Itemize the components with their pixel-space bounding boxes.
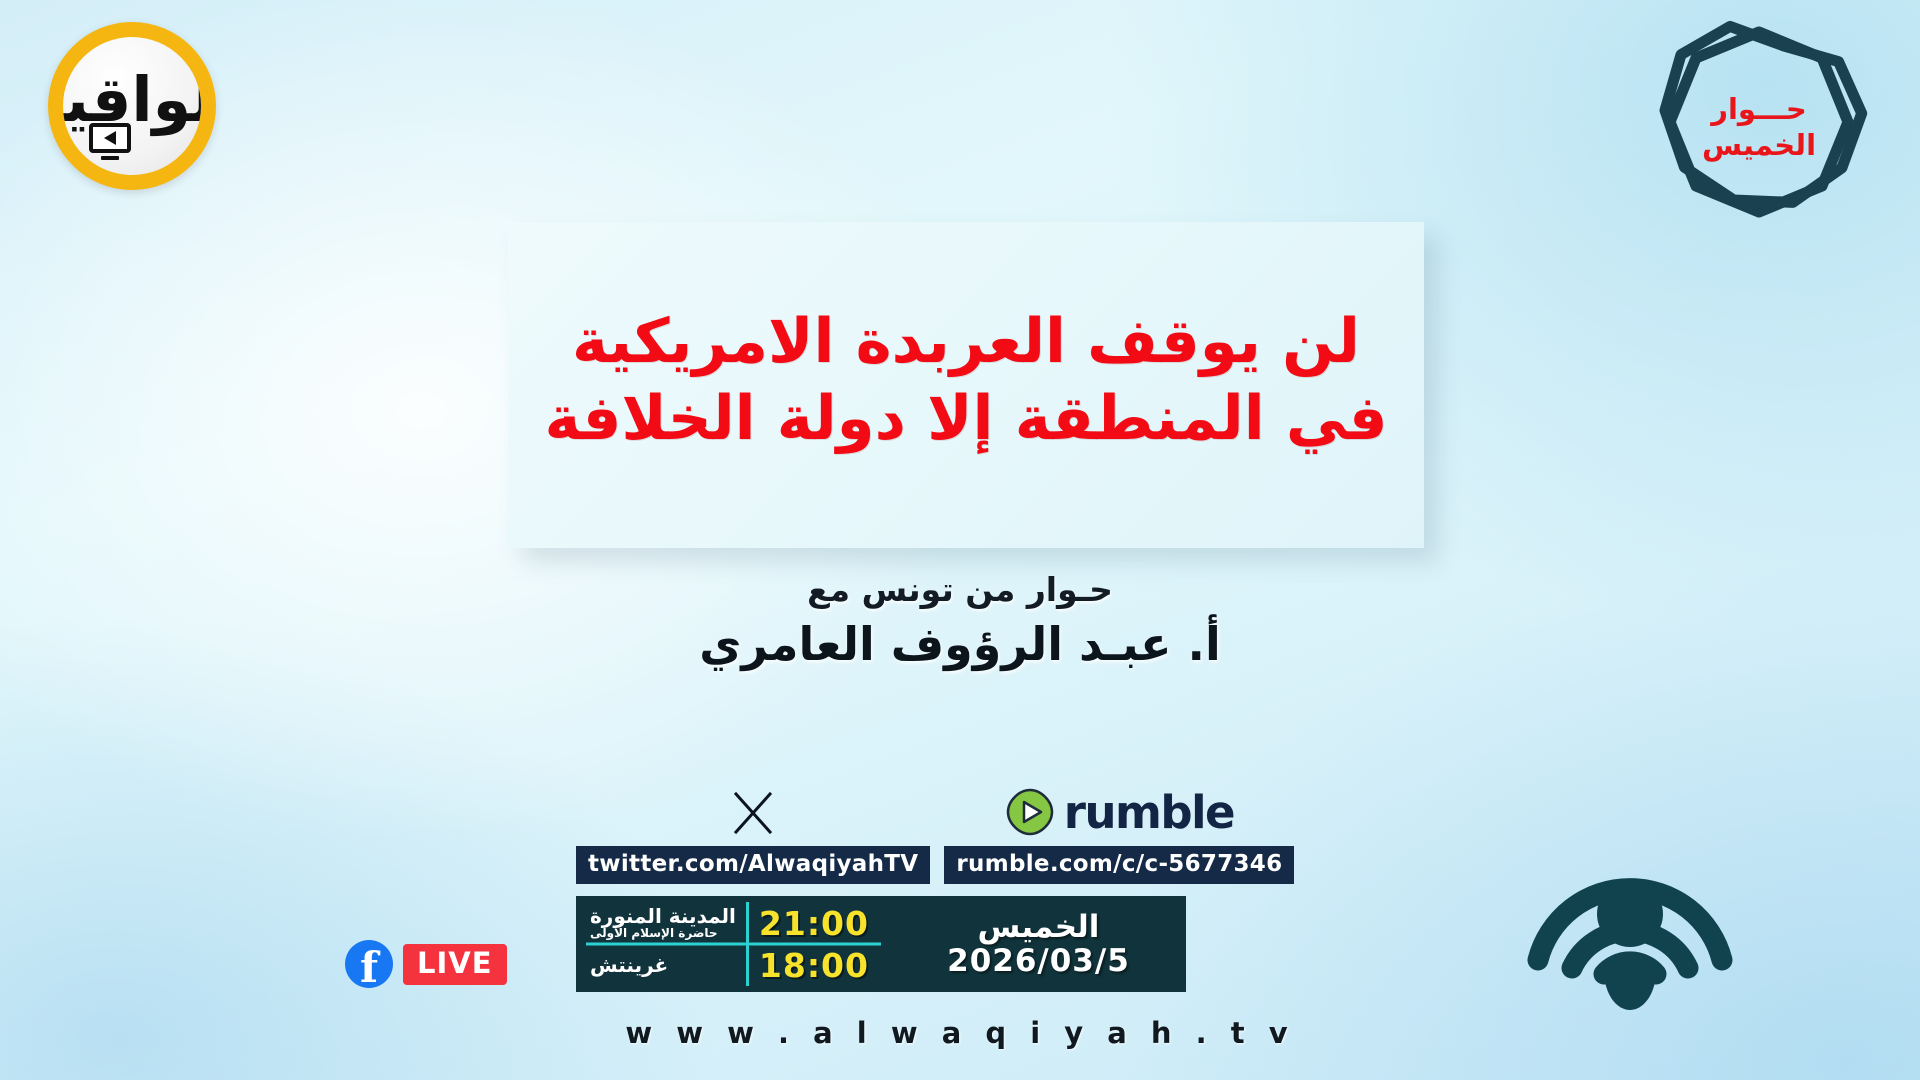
channel-logo-text: الواقية [63,69,201,131]
headline-line-2: في المنطقة إلا دولة الخلافة [545,380,1388,457]
broadcast-podcast-icon [1520,802,1740,1012]
program-badge: حـــوار الخميس [1644,18,1874,236]
facebook-icon[interactable]: f [345,940,393,988]
x-logo [729,786,777,838]
time-divider-1 [746,944,749,986]
schedule-time-row: المدينة المنورة حاضرة الإسلام الأولى 21:… [580,902,881,944]
facebook-letter: f [360,947,378,988]
headline-line-1: لن يوقف العربدة الامريكية [572,303,1360,380]
schedule-date-block: الخميس 2026/03/5 [891,896,1186,992]
timezone-main-0: المدينة المنورة [590,906,736,927]
rumble-play-icon [1005,787,1055,837]
podcast-waves-icon [1520,802,1740,1012]
timezone-sub-0: حاضرة الإسلام الأولى [590,927,718,940]
guest-name: أ. عبـد الرؤوف العامري [699,617,1221,671]
rumble-logo: rumble [1005,786,1234,838]
channel-logo[interactable]: الواقية [48,22,216,190]
rosette-frame-icon [1644,18,1874,236]
platform-row: rumble rumble.com/c/c-5677346 twitter.co… [576,786,1186,884]
broadcast-cluster: rumble rumble.com/c/c-5677346 twitter.co… [576,786,1186,992]
poster-canvas: الواقية حـــوار الخميس لن يوقف العربدة ا… [0,0,1920,1080]
channel-logo-inner: الواقية [63,37,201,175]
timezone-names-1: غرينتش [580,955,736,976]
x-url-chip[interactable]: twitter.com/AlwaqiyahTV [576,846,930,884]
time-value-0: 21:00 [759,907,881,940]
facebook-live-badge[interactable]: f LIVE [345,940,507,988]
schedule-times: المدينة المنورة حاضرة الإسلام الأولى 21:… [576,896,891,992]
timezone-main-1: غرينتش [590,955,668,976]
time-divider-0 [746,902,749,944]
timezone-names-0: المدينة المنورة حاضرة الإسلام الأولى [580,906,736,940]
x-logo-icon [729,788,777,836]
schedule-bar: المدينة المنورة حاضرة الإسلام الأولى 21:… [576,896,1186,992]
subtitle-block: حـوار من تونس مع أ. عبـد الرؤوف العامري [0,570,1920,671]
rumble-wordmark: rumble [1064,790,1234,835]
headline-panel: لن يوقف العربدة الامريكية في المنطقة إلا… [508,222,1424,548]
platform-rumble[interactable]: rumble rumble.com/c/c-5677346 [944,786,1294,884]
schedule-day-name: الخميس [978,912,1100,943]
platform-x-twitter[interactable]: twitter.com/AlwaqiyahTV [576,786,930,884]
schedule-time-row: غرينتش 18:00 [580,944,881,986]
website-url[interactable]: w w w . a l w a q i y a h . t v [0,1016,1920,1050]
time-value-1: 18:00 [759,949,881,982]
tv-play-icon [89,123,131,153]
schedule-date: 2026/03/5 [947,946,1130,977]
rumble-url-chip[interactable]: rumble.com/c/c-5677346 [944,846,1294,884]
subtitle-intro: حـوار من تونس مع [807,570,1113,609]
live-badge: LIVE [403,944,507,985]
